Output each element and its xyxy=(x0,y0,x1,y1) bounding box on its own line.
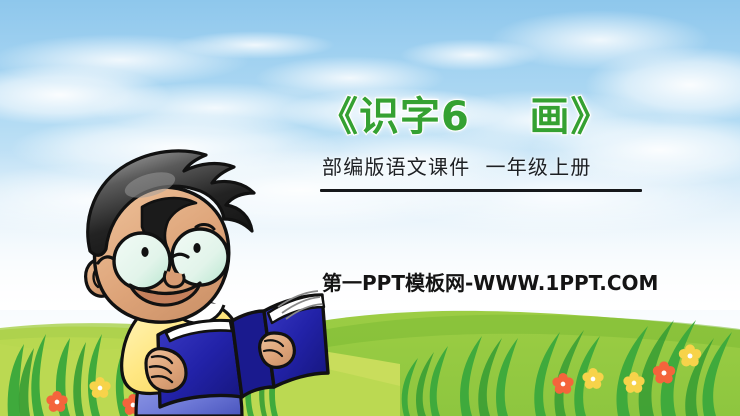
watermark-text: 第一PPT模板网-WWW.1PPT.COM xyxy=(322,267,658,296)
presentation-slide: 《识字6 画》 部编版语文课件 一年级上册 第一PPT模板网-WWW.1PPT.… xyxy=(0,0,740,416)
title-divider xyxy=(320,189,642,192)
subtitle: 部编版语文课件 一年级上册 xyxy=(322,151,718,180)
title-block: 《识字6 画》 部编版语文课件 一年级上册 xyxy=(318,96,718,192)
main-title: 《识字6 画》 xyxy=(318,96,718,139)
boy-eye-left xyxy=(141,247,148,257)
boy-eye-right xyxy=(193,243,200,253)
